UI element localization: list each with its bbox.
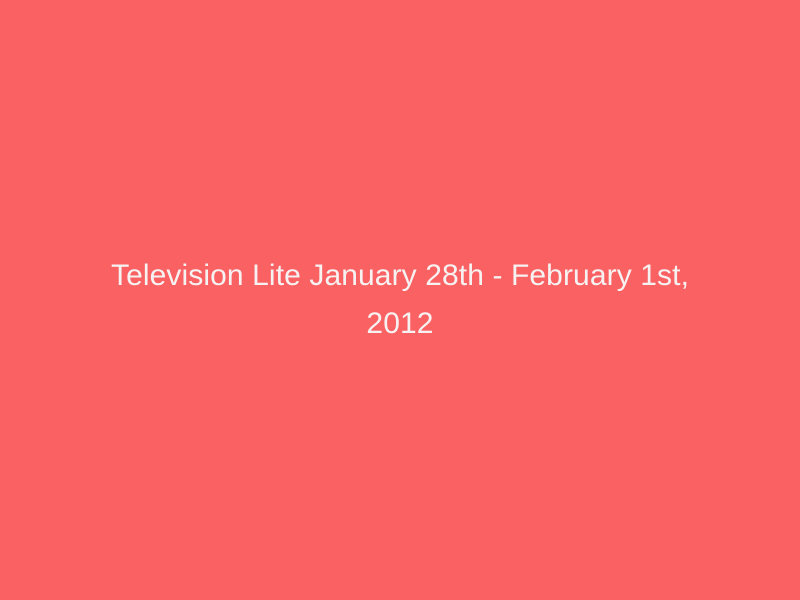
placeholder-banner: Television Lite January 28th - February … [0,0,800,600]
placeholder-caption: Television Lite January 28th - February … [88,252,712,348]
caption-block: Television Lite January 28th - February … [80,252,720,348]
